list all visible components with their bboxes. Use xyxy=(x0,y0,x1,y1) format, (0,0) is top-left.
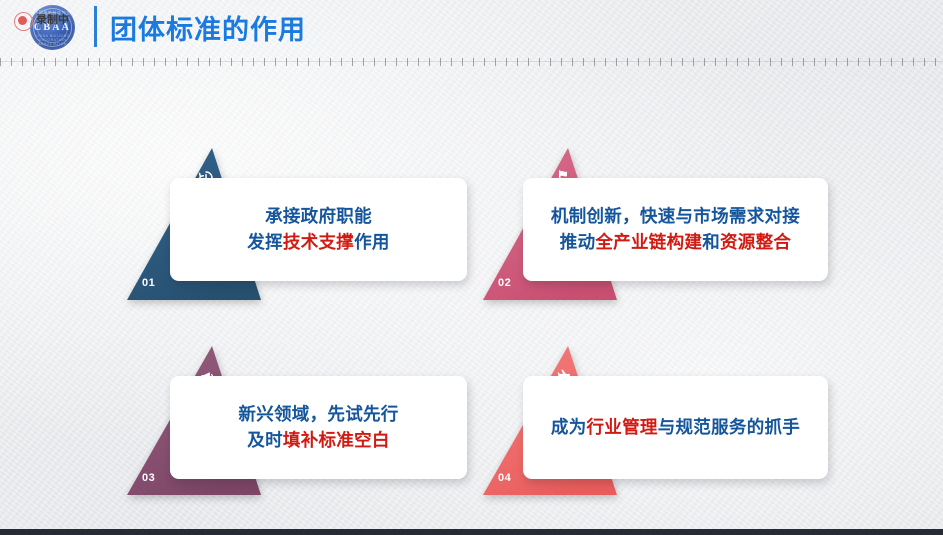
page-title: 团体标准的作用 xyxy=(110,8,306,47)
recording-label: 录制中 xyxy=(36,11,69,27)
divider-ticks xyxy=(0,58,943,66)
slide-header: 中国建筑装饰协会 CBAA CHINA BUILDING DECORATION … xyxy=(0,0,943,57)
header-tick-divider xyxy=(0,58,943,66)
card-text-01: 承接政府职能 发挥技术支撑作用 xyxy=(235,204,401,255)
card-line: 及时填补标准空白 xyxy=(238,428,398,453)
content-block-03: 03 新兴领域，先试先行 及时填补标准空白 xyxy=(127,343,467,495)
header-vertical-divider xyxy=(94,6,97,47)
card-text-03: 新兴领域，先试先行 及时填补标准空白 xyxy=(226,402,410,453)
content-card-03[interactable]: 新兴领域，先试先行 及时填补标准空白 xyxy=(170,376,467,479)
content-block-02: 02 机制创新，快速与市场需求对接 推动全产业链构建和资源整合 xyxy=(483,145,828,300)
presentation-slide: 中国建筑装饰协会 CBAA CHINA BUILDING DECORATION … xyxy=(0,0,943,535)
card-line: 发挥技术支撑作用 xyxy=(247,230,389,255)
card-line: 机制创新，快速与市场需求对接 xyxy=(551,204,800,229)
logo-bottom-text: CHINA BUILDING DECORATION ASSOCIATION xyxy=(30,34,75,46)
content-card-02[interactable]: 机制创新，快速与市场需求对接 推动全产业链构建和资源整合 xyxy=(523,178,828,281)
organization-logo: 中国建筑装饰协会 CBAA CHINA BUILDING DECORATION … xyxy=(13,3,87,51)
block-number-03: 03 xyxy=(142,472,155,484)
content-card-01[interactable]: 承接政府职能 发挥技术支撑作用 xyxy=(170,178,467,281)
clock-history-icon xyxy=(198,170,214,186)
content-block-04: 04 成为行业管理与规范服务的抓手 xyxy=(483,343,828,495)
recording-indicator-icon xyxy=(14,12,33,31)
block-number-01: 01 xyxy=(142,277,155,289)
content-block-01: 01 承接政府职能 发挥技术支撑作用 xyxy=(127,145,467,300)
bottom-bar xyxy=(0,529,943,535)
flag-icon xyxy=(556,169,571,184)
block-number-02: 02 xyxy=(498,277,511,289)
block-number-04: 04 xyxy=(498,472,511,484)
content-card-04[interactable]: 成为行业管理与规范服务的抓手 xyxy=(523,376,828,479)
card-line: 推动全产业链构建和资源整合 xyxy=(551,230,800,255)
airplane-icon xyxy=(556,368,572,384)
card-text-04: 成为行业管理与规范服务的抓手 xyxy=(539,415,812,440)
megaphone-icon xyxy=(199,369,215,385)
card-line: 新兴领域，先试先行 xyxy=(238,402,398,427)
card-text-02: 机制创新，快速与市场需求对接 推动全产业链构建和资源整合 xyxy=(539,204,812,255)
card-line: 成为行业管理与规范服务的抓手 xyxy=(551,415,800,440)
card-line: 承接政府职能 xyxy=(247,204,389,229)
